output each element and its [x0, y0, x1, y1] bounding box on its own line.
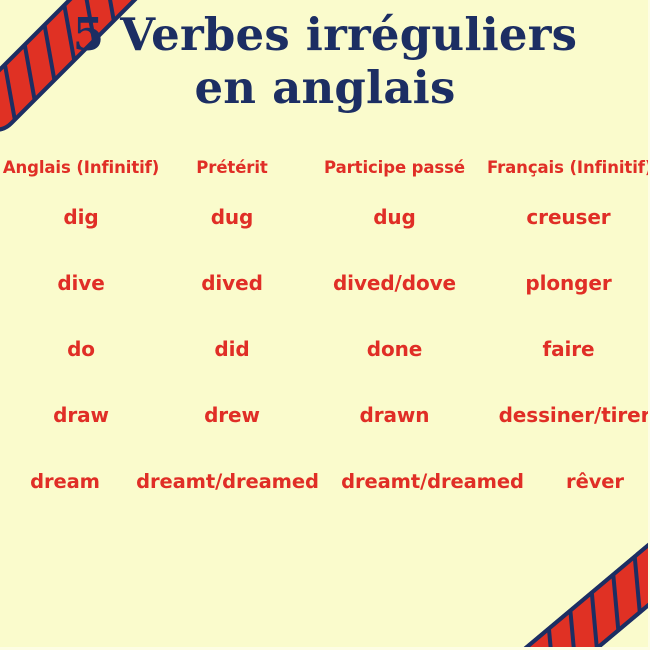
cell-infinitive: dream — [0, 470, 130, 493]
column-header-french: Français (Infinitif) — [487, 158, 650, 177]
column-header-preterite: Prétérit — [162, 158, 302, 177]
column-header-participle: Participe passé — [302, 158, 487, 177]
cell-participle: dived/dove — [302, 271, 487, 295]
table-row: dig dug dug creuser — [0, 184, 650, 250]
column-header-infinitive: Anglais (Infinitif) — [0, 158, 162, 177]
irregular-verbs-table: Anglais (Infinitif) Prétérit Participe p… — [0, 150, 650, 514]
cell-french: rêver — [540, 470, 650, 493]
poster-canvas: 5 Verbes irréguliers en anglais Anglais … — [0, 0, 650, 650]
cell-preterite: did — [162, 337, 302, 361]
cell-infinitive: do — [0, 337, 162, 361]
cell-french: dessiner/tirer — [487, 403, 650, 427]
table-row: draw drew drawn dessiner/tirer — [0, 382, 650, 448]
cell-preterite: dreamt/dreamed — [130, 470, 325, 493]
table-row: do did done faire — [0, 316, 650, 382]
table-row: dive dived dived/dove plonger — [0, 250, 650, 316]
cell-infinitive: dig — [0, 205, 162, 229]
page-title-line-2: en anglais — [0, 61, 650, 114]
twisted-rope-icon — [512, 534, 650, 650]
cell-infinitive: draw — [0, 403, 162, 427]
cell-french: faire — [487, 337, 650, 361]
table-header-row: Anglais (Infinitif) Prétérit Participe p… — [0, 150, 650, 184]
cell-participle: drawn — [302, 403, 487, 427]
cell-participle: done — [302, 337, 487, 361]
cell-french: creuser — [487, 205, 650, 229]
cell-participle: dreamt/dreamed — [325, 470, 540, 493]
cell-preterite: drew — [162, 403, 302, 427]
cell-participle: dug — [302, 205, 487, 229]
page-title-line-1: 5 Verbes irréguliers — [73, 8, 577, 61]
rope-bottom-right-decoration — [512, 534, 650, 650]
cell-preterite: dived — [162, 271, 302, 295]
page-title: 5 Verbes irréguliers en anglais — [0, 8, 650, 114]
cell-infinitive: dive — [0, 271, 162, 295]
table-row: dream dreamt/dreamed dreamt/dreamed rêve… — [0, 448, 650, 514]
cell-preterite: dug — [162, 205, 302, 229]
cell-french: plonger — [487, 271, 650, 295]
